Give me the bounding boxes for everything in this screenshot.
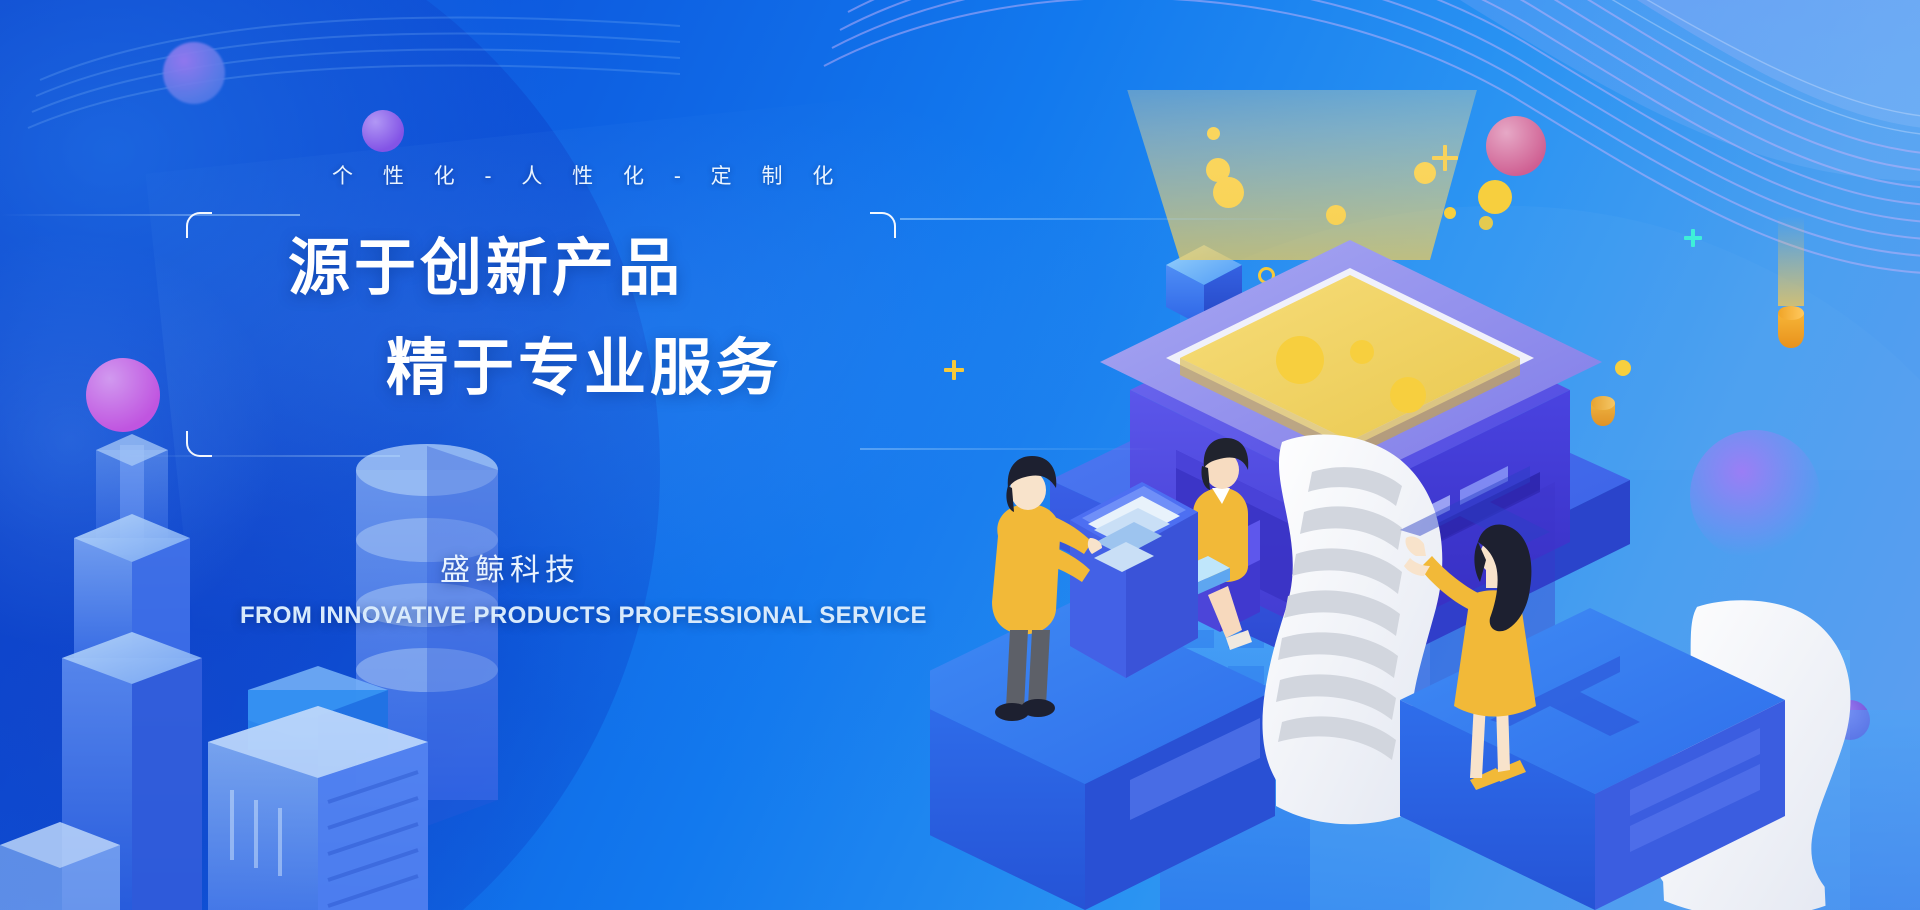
- headline-line-2: 精于专业服务: [386, 338, 1048, 400]
- kicker-text: 个 性 化 - 人 性 化 - 定 制 化: [332, 160, 732, 190]
- frame-corner-top-right: [870, 212, 896, 238]
- frame-corner-top-left: [186, 212, 212, 238]
- hero-copy: 个 性 化 - 人 性 化 - 定 制 化 源于创新产品 精于专业服务 盛鲸科技…: [0, 0, 1100, 910]
- brand-name: 盛鲸科技: [440, 545, 580, 589]
- headline-line-1: 源于创新产品: [288, 238, 1048, 300]
- frame-corner-bottom-left: [186, 431, 212, 457]
- headline-block: 源于创新产品 精于专业服务: [288, 238, 1048, 400]
- hero-banner: 个 性 化 - 人 性 化 - 定 制 化 源于创新产品 精于专业服务 盛鲸科技…: [0, 0, 1920, 910]
- golden-light-beam: [1090, 90, 1510, 260]
- frame-top-edge: [672, 212, 872, 214]
- tagline-text: FROM INNOVATIVE PRODUCTS PROFESSIONAL SE…: [240, 602, 927, 630]
- frame-left-edge: [186, 234, 188, 434]
- frame-bottom-edge: [208, 455, 688, 457]
